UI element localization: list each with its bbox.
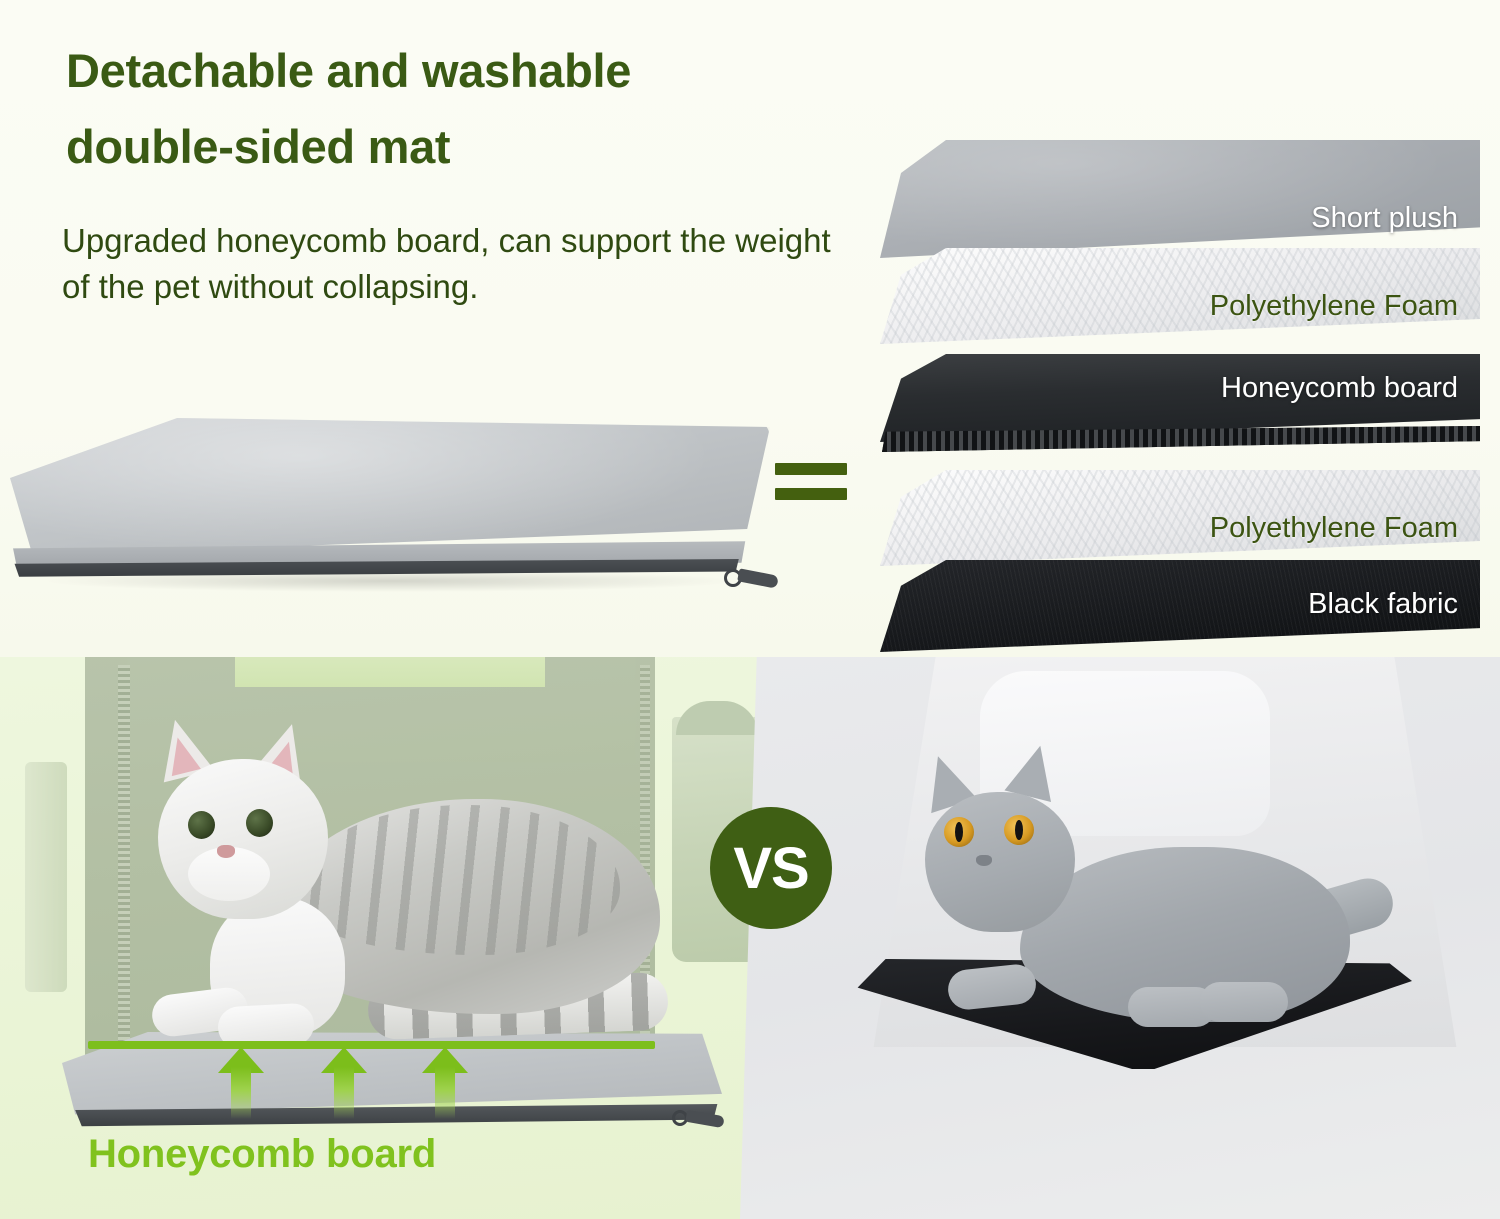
carrier-top-window xyxy=(235,657,545,687)
zipper-pull-icon xyxy=(722,566,780,600)
short-plush-slab xyxy=(880,140,1480,258)
comparison-panel-pp-board: PP board xyxy=(740,657,1500,1219)
cat-pupil-right xyxy=(1015,820,1023,840)
vs-badge-label: VS xyxy=(733,835,808,902)
top-section: Detachable and washable double-sided mat… xyxy=(0,0,1500,657)
support-arrow-up-icon xyxy=(422,1047,468,1119)
layer-stack-diagram: Short plush Polyethylene Foam Honeycomb … xyxy=(880,140,1490,605)
layer-black-fabric: Black fabric xyxy=(880,560,1480,670)
cat-tabby-stripes xyxy=(290,805,620,955)
flat-board-line xyxy=(88,1041,655,1049)
subtitle-text: Upgraded honeycomb board, can support th… xyxy=(62,218,852,310)
cat-eye-right xyxy=(246,809,273,837)
comparison-section: Honeycomb board xyxy=(0,657,1500,1219)
headline-block: Detachable and washable double-sided mat xyxy=(62,38,892,190)
honeycomb-support-indicator xyxy=(88,1041,688,1121)
support-arrow-up-icon xyxy=(218,1047,264,1119)
layer-label-foam-bottom: Polyethylene Foam xyxy=(1210,512,1458,545)
headline-line-2: double-sided mat xyxy=(62,114,454,180)
headline-line-1: Detachable and washable xyxy=(62,38,635,104)
support-arrow-up-icon xyxy=(321,1047,367,1119)
layer-label-short-plush: Short plush xyxy=(1311,202,1458,235)
comparison-panel-honeycomb: Honeycomb board xyxy=(0,657,790,1219)
cat-eye-left xyxy=(188,811,215,839)
equals-sign-icon xyxy=(775,455,847,507)
honeycomb-board-caption: Honeycomb board xyxy=(88,1132,688,1177)
carrier-side-handle xyxy=(25,762,67,992)
vs-badge: VS xyxy=(710,807,832,929)
silver-tabby-cat xyxy=(100,719,660,1059)
cat-head xyxy=(925,792,1075,932)
double-sided-mat-photo xyxy=(10,418,800,618)
layer-label-foam-top: Polyethylene Foam xyxy=(1210,290,1458,323)
cat-pupil-left xyxy=(955,822,963,842)
layer-label-black-fabric: Black fabric xyxy=(1308,588,1458,621)
layer-polyethylene-foam-top: Polyethylene Foam xyxy=(880,248,1480,356)
cat-paw-rear-right xyxy=(1200,982,1288,1022)
gray-shorthair-cat xyxy=(900,737,1380,1037)
cat-nose xyxy=(976,855,992,866)
layer-label-honeycomb-board: Honeycomb board xyxy=(1221,372,1458,405)
layer-honeycomb-board: Honeycomb board xyxy=(880,354,1480,476)
cat-paw-front-left xyxy=(946,963,1038,1012)
cat-nose xyxy=(217,845,235,858)
